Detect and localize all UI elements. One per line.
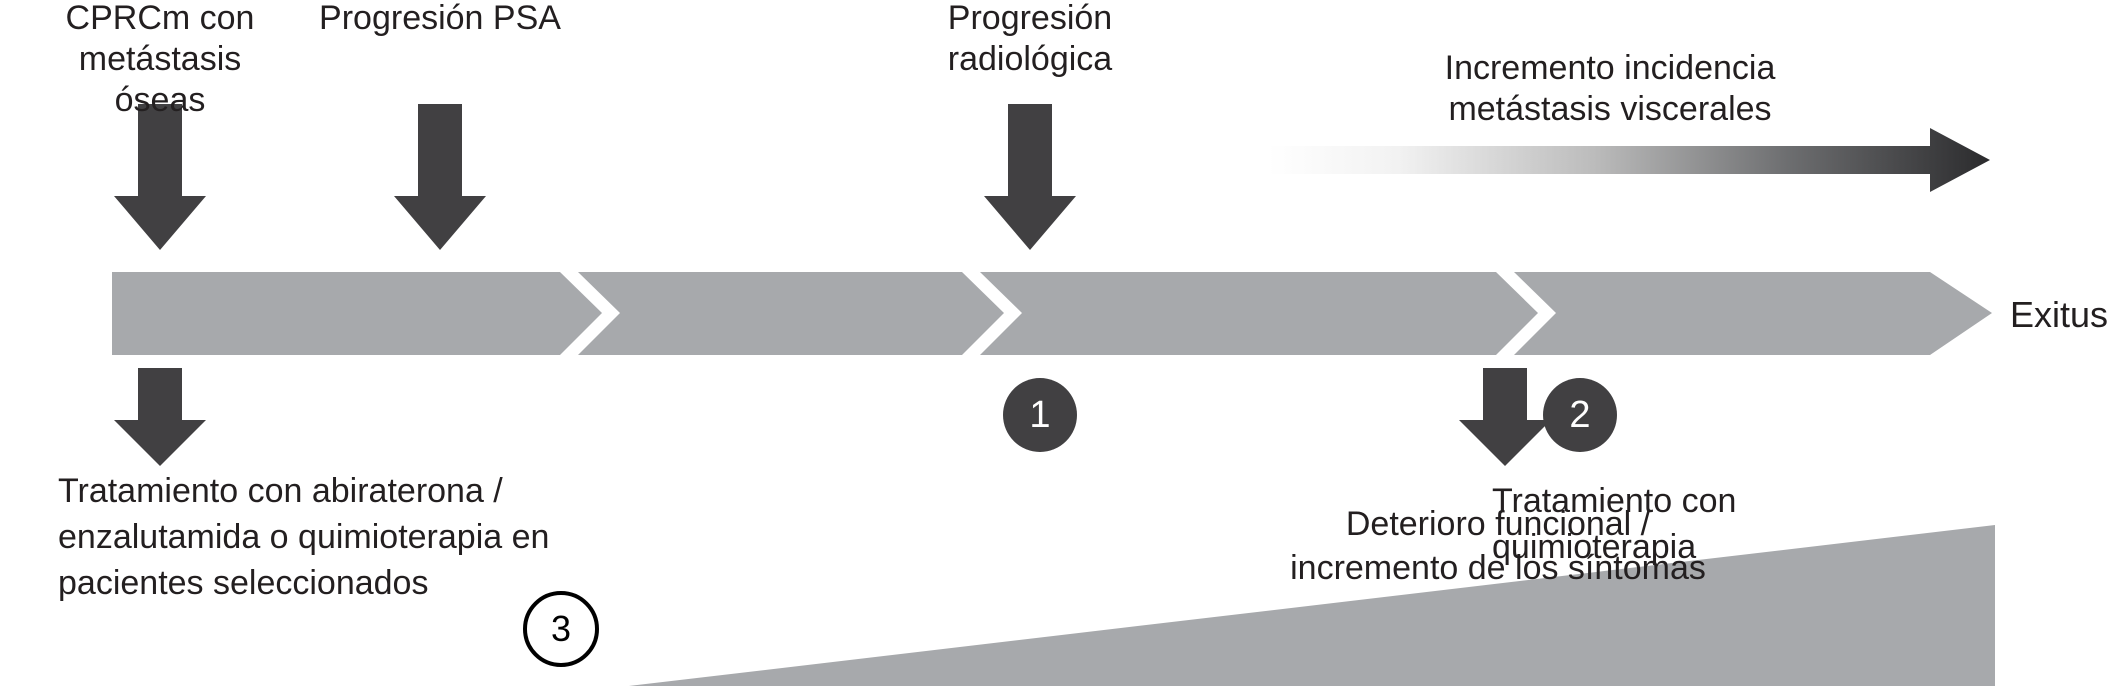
marker-badge-2: 2 — [1543, 378, 1617, 452]
top-label-visceral-metastasis: Incremento incidencia metástasis viscera… — [1300, 48, 1920, 130]
diagram-canvas: CPRCm con metástasis óseas Progresión PS… — [0, 0, 2127, 686]
timeline-bar — [112, 272, 1992, 355]
down-arrow-icon — [984, 104, 1076, 250]
marker-badge-1: 1 — [1003, 378, 1077, 452]
down-arrow-icon — [114, 368, 206, 466]
top-label-psa: Progresión PSA — [250, 0, 630, 39]
top-label-radiologica: Progresión radiológica — [850, 0, 1210, 80]
wedge-label-functional-decline: Deterioro funcional / incremento de los … — [1058, 502, 1938, 590]
down-arrow-icon — [114, 104, 206, 250]
gradient-right-arrow-icon — [1268, 128, 1990, 192]
timeline-end-label: Exitus — [2010, 294, 2108, 336]
down-arrow-icon — [394, 104, 486, 250]
down-arrow-icon — [1459, 368, 1551, 466]
bottom-label-abiraterone-treatment: Tratamiento con abiraterona / enzalutami… — [58, 468, 618, 606]
